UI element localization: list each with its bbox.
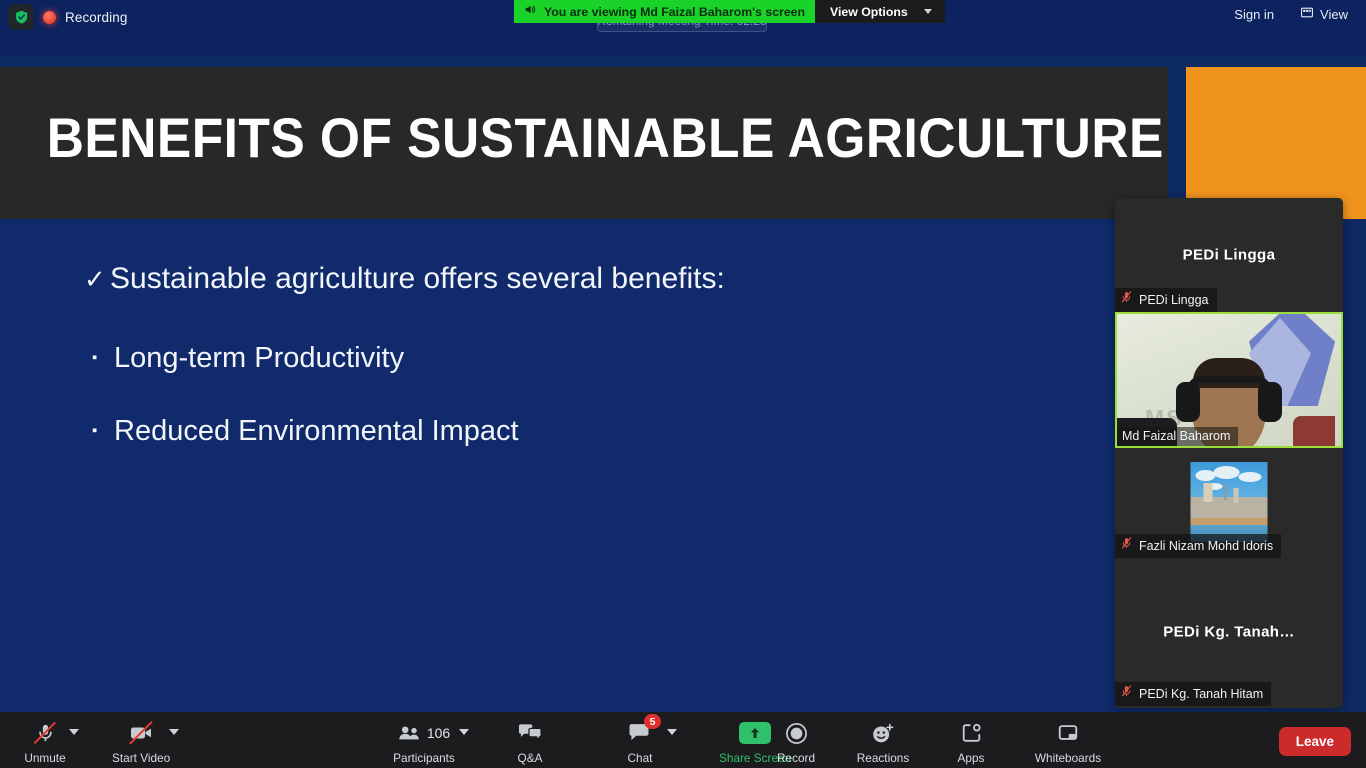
qa-icon (518, 720, 543, 746)
qa-label: Q&A (518, 751, 543, 765)
toolbar-left-group: Unmute Start Video (14, 715, 176, 765)
viewing-screen-notice: You are viewing Md Faizal Baharom's scre… (514, 0, 815, 23)
toolbar-center-group: 106 Participants Q&A 5 Chat (383, 715, 797, 765)
mic-muted-icon (1120, 684, 1133, 703)
qa-button[interactable]: Q&A (499, 715, 561, 765)
record-icon (785, 720, 808, 746)
chat-button[interactable]: 5 Chat (609, 715, 671, 765)
sign-in-label: Sign in (1234, 7, 1274, 22)
reactions-button[interactable]: Reactions (842, 715, 924, 765)
shared-screen-area: BENEFITS OF SUSTAINABLE AGRICULTURE ✓ Su… (0, 56, 1366, 712)
participant-tile[interactable]: PEDi Lingga PEDi Lingga (1115, 198, 1343, 312)
shield-check-icon[interactable] (8, 4, 34, 30)
participant-name: PEDi Lingga (1139, 293, 1209, 307)
top-bar: Recording Remaining Meeting Time: 02:25 … (0, 0, 1366, 56)
recording-dot-icon (43, 11, 56, 24)
bullet-text: Sustainable agriculture offers several b… (110, 262, 725, 296)
start-video-label: Start Video (112, 751, 170, 765)
participant-name: Fazli Nizam Mohd Idoris (1139, 539, 1273, 553)
participant-name-bar: PEDi Lingga (1115, 288, 1217, 312)
unmute-button[interactable]: Unmute (14, 715, 76, 765)
unmute-label: Unmute (24, 751, 65, 765)
grid-view-icon (1300, 6, 1314, 22)
list-item: ▪ Reduced Environmental Impact (84, 413, 1084, 449)
participants-icon: 106 (398, 720, 450, 746)
checkmark-icon: ✓ (84, 262, 110, 296)
participant-name-bar: Fazli Nizam Mohd Idoris (1115, 534, 1281, 558)
chevron-down-icon (924, 9, 932, 14)
chat-label: Chat (628, 751, 653, 765)
square-bullet-icon: ▪ (88, 340, 114, 376)
list-item: ✓ Sustainable agriculture offers several… (84, 262, 1084, 296)
video-options-chevron-icon[interactable] (169, 729, 179, 735)
participant-tile[interactable]: Fazli Nizam Mohd Idoris (1115, 448, 1343, 558)
viewing-screen-text: You are viewing Md Faizal Baharom's scre… (544, 5, 805, 19)
speaker-icon (523, 3, 537, 21)
view-label: View (1320, 7, 1348, 22)
participant-initials-name: PEDi Kg. Tanah… (1115, 624, 1343, 641)
bullet-text: Reduced Environmental Impact (114, 413, 519, 449)
security-recording-group: Recording (8, 4, 127, 30)
reactions-icon (871, 720, 895, 746)
audio-options-chevron-icon[interactable] (69, 729, 79, 735)
participants-label: Participants (393, 751, 455, 765)
bullet-text: Long-term Productivity (114, 340, 404, 376)
record-button[interactable]: Record (760, 715, 832, 765)
apps-icon (960, 720, 983, 746)
slide-bullet-list: ✓ Sustainable agriculture offers several… (84, 262, 1084, 486)
apps-label: Apps (958, 751, 985, 765)
participant-tile[interactable]: PEDi Kg. Tanah… PEDi Kg. Tanah Hitam (1115, 558, 1343, 706)
whiteboards-button[interactable]: Whiteboards (1022, 715, 1114, 765)
slide-accent-block (1186, 67, 1366, 219)
reactions-label: Reactions (857, 751, 909, 765)
square-bullet-icon: ▪ (88, 413, 114, 449)
participants-chevron-icon[interactable] (459, 729, 469, 735)
list-item: ▪ Long-term Productivity (84, 340, 1084, 376)
view-options-label: View Options (830, 5, 908, 19)
apps-button[interactable]: Apps (936, 715, 1006, 765)
record-label: Record (777, 751, 815, 765)
microphone-muted-icon (35, 720, 56, 746)
presentation-slide: BENEFITS OF SUSTAINABLE AGRICULTURE ✓ Su… (0, 67, 1168, 712)
recording-label: Recording (65, 10, 127, 25)
mic-muted-icon (1120, 290, 1133, 309)
participant-name: Md Faizal Baharom (1122, 429, 1230, 443)
start-video-button[interactable]: Start Video (106, 715, 176, 765)
sign-in-button[interactable]: Sign in (1224, 4, 1284, 25)
whiteboards-label: Whiteboards (1035, 751, 1101, 765)
chat-icon: 5 (628, 720, 652, 746)
participant-initials-name: PEDi Lingga (1115, 247, 1343, 264)
chat-chevron-icon[interactable] (667, 729, 677, 735)
leave-button[interactable]: Leave (1279, 727, 1351, 756)
chat-unread-badge: 5 (644, 714, 661, 729)
participant-name: PEDi Kg. Tanah Hitam (1139, 687, 1263, 701)
video-off-icon (128, 720, 154, 746)
screen-share-banner: You are viewing Md Faizal Baharom's scre… (514, 0, 945, 23)
participant-name-bar: Md Faizal Baharom (1117, 427, 1238, 446)
slide-title: BENEFITS OF SUSTAINABLE AGRICULTURE (47, 105, 1122, 170)
participant-tile-active-speaker[interactable]: MS VAT Md Faizal Baharom (1115, 312, 1343, 448)
participant-avatar (1191, 462, 1268, 542)
view-options-button[interactable]: View Options (815, 0, 945, 23)
toolbar-right-group: Record Reactions Apps (760, 715, 1114, 765)
participants-count: 106 (427, 725, 450, 741)
mic-muted-icon (1120, 536, 1133, 555)
whiteboard-icon (1056, 720, 1080, 746)
participant-name-bar: PEDi Kg. Tanah Hitam (1115, 682, 1271, 706)
top-right-actions: Sign in View (1224, 3, 1358, 25)
meeting-toolbar: Unmute Start Video (0, 712, 1366, 768)
participant-filmstrip[interactable]: PEDi Lingga PEDi Lingga MS (1115, 198, 1343, 708)
participants-button[interactable]: 106 Participants (383, 715, 465, 765)
view-layout-button[interactable]: View (1290, 3, 1358, 25)
